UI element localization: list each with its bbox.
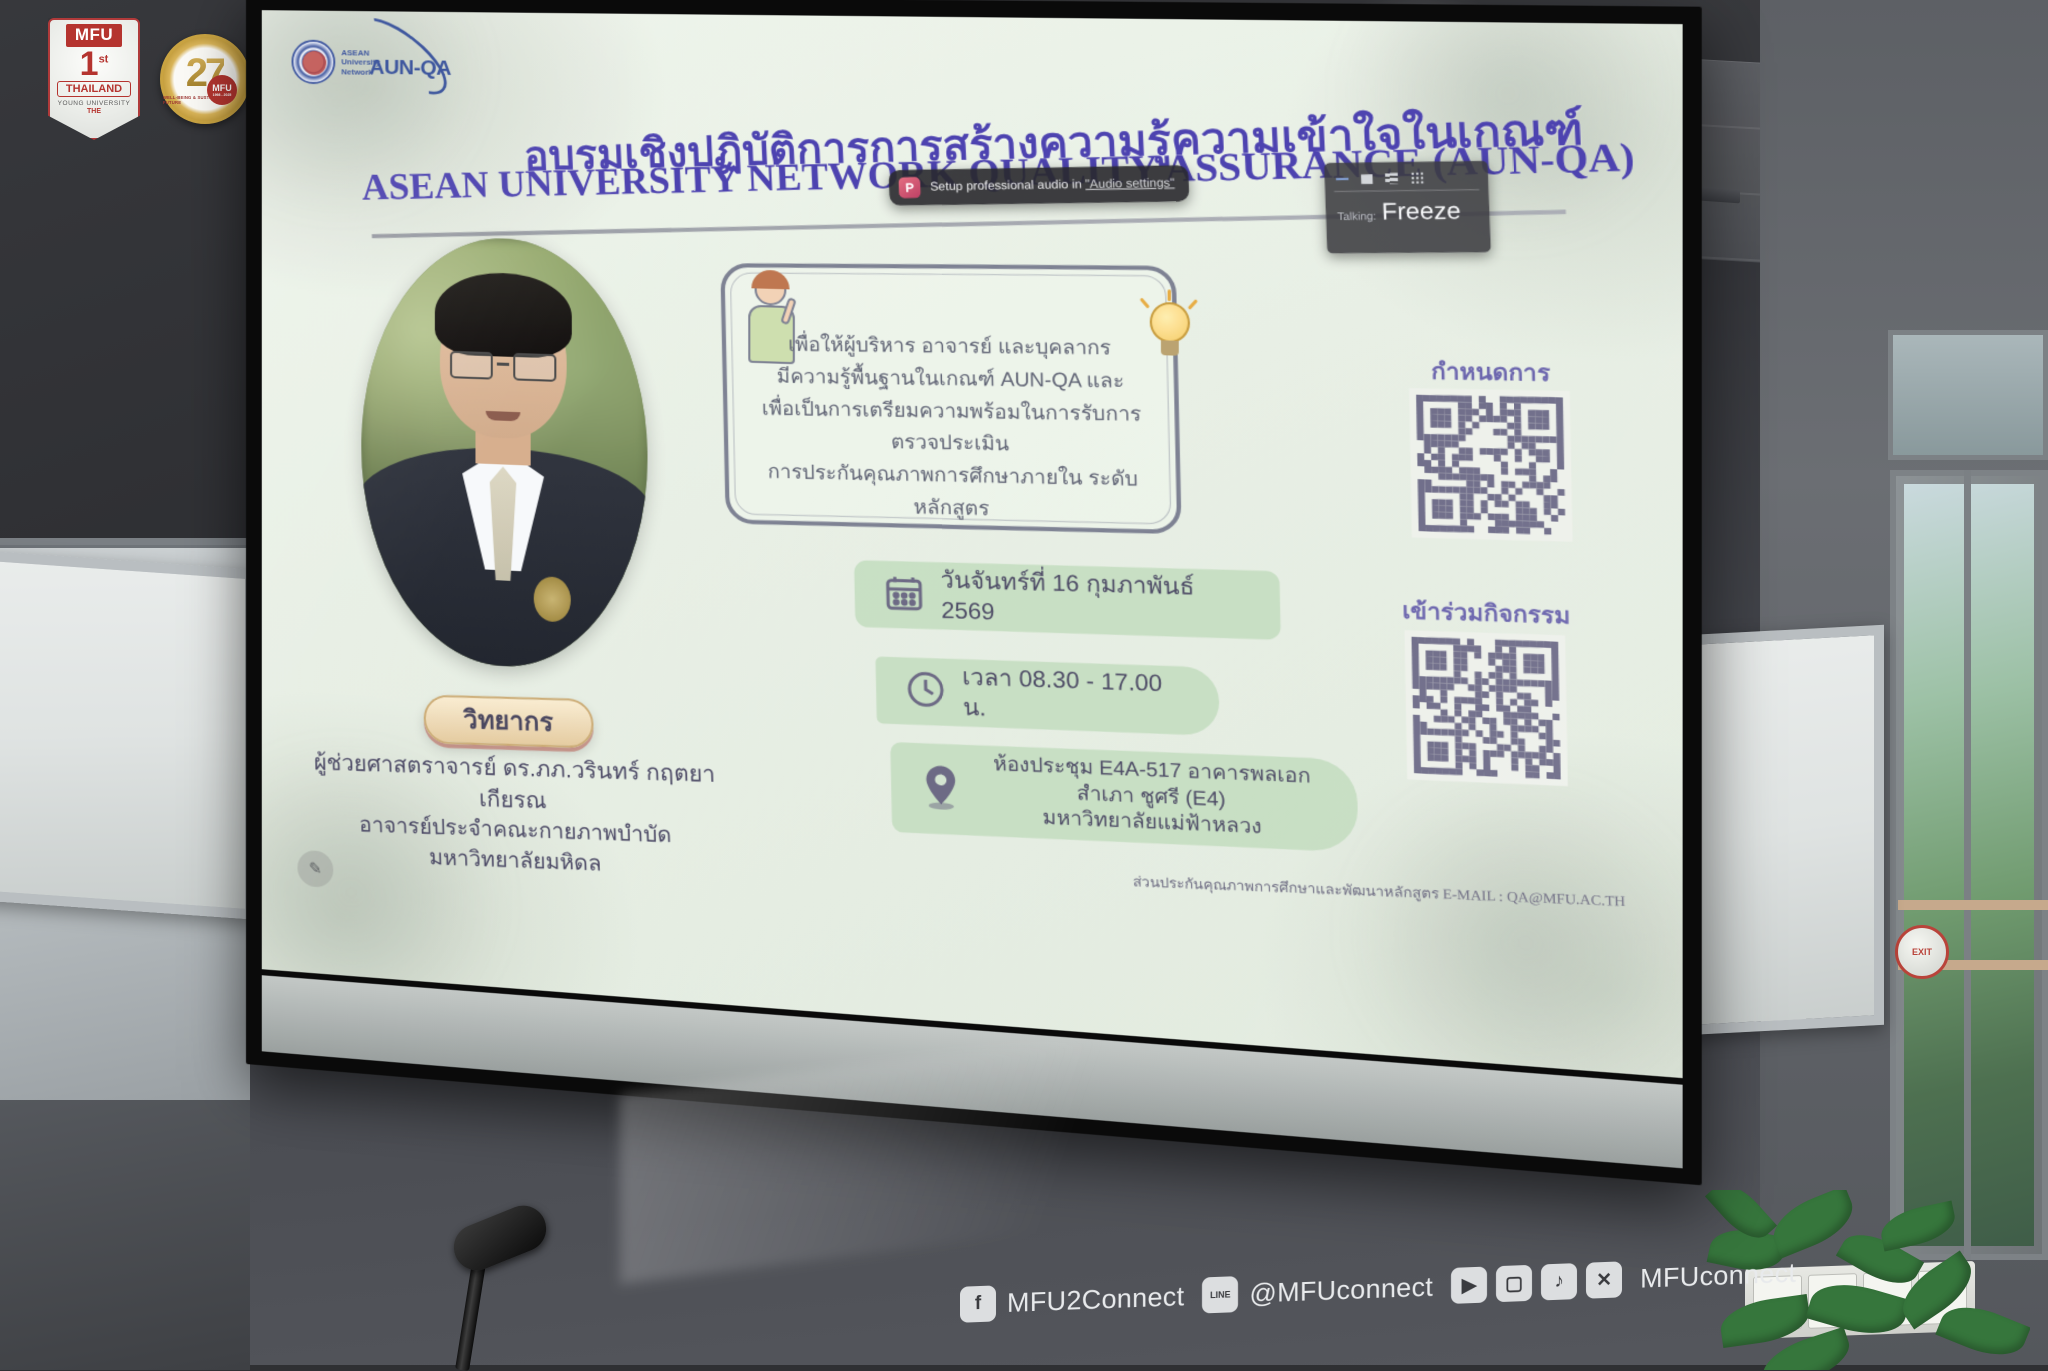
social-icon-cluster: ▶ ▢ ♪ ✕ [1451, 1261, 1622, 1304]
plant-leaf [1935, 1295, 2030, 1366]
screen-icon[interactable] [1361, 174, 1373, 184]
qr-cell [1558, 528, 1565, 535]
rank-source: THE [87, 108, 101, 115]
register-qr-label: เข้าร่วมกิจกรรม [1399, 593, 1574, 634]
anniversary-inner-wordmark: MFU [212, 83, 232, 93]
meeting-room-scene: VERTEX EXIT MFU 1st THAILAND YOUNG UNIVE… [0, 0, 2048, 1365]
microphone-head [447, 1199, 553, 1278]
presentation-slide: ASEAN University Network AUN-QA อบรมเชิง… [262, 10, 1683, 1078]
line-handle: @MFUconnect [1249, 1271, 1433, 1309]
wall-base-left [0, 1100, 250, 1370]
watercolor-wash [1335, 774, 1683, 1078]
event-time-row: เวลา 08.30 - 17.00 น. [875, 656, 1219, 735]
rank-country: THAILAND [57, 81, 131, 97]
location-line-1: ห้องประชุม E4A-517 อาคารพลเอกสำเภา ชูศรี… [993, 753, 1311, 811]
objective-text: เพื่อให้ผู้บริหาร อาจารย์ และบุคลากร มีค… [738, 329, 1168, 530]
qr-pattern [1416, 395, 1565, 535]
lightbulb-ray [1188, 299, 1199, 310]
rank-category: YOUNG UNIVERSITY [58, 100, 131, 107]
facebook-icon: f [960, 1285, 996, 1322]
speaker-details: ผู้ช่วยศาสตราจารย์ ดร.ภภ.วรินทร์ กฤตยาเก… [300, 746, 734, 885]
anniversary-inner-years: 1998 - 2025 [213, 93, 232, 97]
youtube-icon[interactable]: ▶ [1451, 1267, 1487, 1304]
audio-setup-toast[interactable]: P Setup professional audio in "Audio set… [888, 165, 1189, 206]
layout-rows-icon[interactable] [1385, 173, 1398, 184]
rank-number: 1st [80, 48, 109, 80]
mfu-wordmark: MFU [66, 24, 122, 47]
door-mullion [1964, 470, 1971, 1260]
clock-icon [904, 667, 948, 716]
whiteboard-left [0, 550, 255, 919]
lightbulb-ray [1140, 298, 1150, 309]
talking-status: Talking: Freeze [1325, 190, 1490, 226]
qr-cell [1554, 773, 1561, 780]
calendar-icon [882, 571, 926, 619]
x-handle: MFUconnect [1640, 1257, 1796, 1294]
presentation-control-panel[interactable]: Talking: Freeze [1324, 161, 1491, 254]
outdoor-railing [1898, 900, 2048, 910]
speaker-portrait [361, 235, 647, 674]
exit-sign: EXIT [1895, 925, 1949, 979]
objective-line: เพื่อให้ผู้บริหาร อาจารย์ และบุคลากร [738, 329, 1164, 366]
location-pin-icon [919, 762, 963, 815]
speaker-role-badge: วิทยากร [423, 694, 594, 748]
schedule-qr-label: กำหนดการ [1403, 354, 1578, 393]
tiktok-icon[interactable]: ♪ [1541, 1263, 1577, 1300]
audio-settings-link[interactable]: "Audio settings" [1085, 177, 1175, 191]
control-icon-row [1324, 161, 1489, 191]
toast-message-text: Setup professional audio in [930, 179, 1082, 194]
portrait-glasses-bridge [497, 362, 509, 365]
event-location-text: ห้องประชุม E4A-517 อาคารพลเอกสำเภา ชูศรี… [977, 752, 1329, 845]
portrait-mouth [486, 411, 521, 421]
projection-screen: ASEAN University Network AUN-QA อบรมเชิง… [246, 0, 1702, 1185]
register-qr[interactable] [1404, 630, 1567, 786]
grid-view-icon[interactable] [1410, 171, 1424, 184]
illustration-hair [751, 270, 789, 290]
portrait-lapel-pin [534, 576, 571, 623]
event-location-row: ห้องประชุม E4A-517 อาคารพลเอกสำเภา ชูศรี… [890, 742, 1358, 852]
portrait-glasses-right [513, 353, 556, 382]
projected-slide-area[interactable]: ASEAN University Network AUN-QA อบรมเชิง… [262, 10, 1683, 1078]
schedule-qr[interactable] [1409, 388, 1573, 542]
objective-line: การประกันคุณภาพการศึกษาภายใน ระดับหลักสู… [741, 457, 1168, 531]
window-upper-right [1888, 330, 2048, 460]
facebook-handle: MFU2Connect [1007, 1281, 1184, 1319]
event-date-text: วันจันทร์ที่ 16 กุมภาพันธ์ 2569 [940, 566, 1251, 635]
talking-value: Freeze [1381, 197, 1461, 226]
whiteboard-right [1684, 625, 1884, 1035]
toast-message: Setup professional audio in "Audio setti… [930, 177, 1175, 194]
qr-pattern [1412, 637, 1561, 780]
social-line[interactable]: LINE @MFUconnect [1202, 1269, 1433, 1314]
aun-qa-wordmark: AUN-QA [369, 56, 451, 81]
mfu-rank-badge: MFU 1st THAILAND YOUNG UNIVERSITY THE [48, 18, 140, 140]
mfu-anniversary-badge: 27 WELL-BEING & SUSTAINABLE FUTURE MFU 1… [160, 34, 250, 124]
minimize-icon[interactable] [1336, 178, 1349, 180]
location-line-2: มหาวิทยาลัยแม่ฟ้าหลวง [1042, 807, 1262, 839]
event-time-text: เวลา 08.30 - 17.00 น. [962, 663, 1191, 731]
social-facebook[interactable]: f MFU2Connect [960, 1278, 1184, 1323]
instagram-icon[interactable]: ▢ [1496, 1265, 1532, 1302]
line-icon: LINE [1202, 1276, 1238, 1313]
objective-line: เพื่อเป็นการเตรียมความพร้อมในการรับการตร… [739, 393, 1166, 465]
lightbulb-ray [1168, 289, 1171, 301]
talking-label: Talking: [1337, 211, 1376, 223]
powerpoint-icon: P [898, 177, 920, 198]
speaker-role-label: วิทยากร [463, 700, 554, 744]
x-twitter-icon[interactable]: ✕ [1586, 1261, 1622, 1298]
aun-seal-icon [292, 40, 336, 85]
anniversary-inner-badge: MFU 1998 - 2025 [207, 75, 237, 105]
event-date-row: วันจันทร์ที่ 16 กุมภาพันธ์ 2569 [854, 560, 1281, 640]
aun-qa-logo: ASEAN University Network AUN-QA [292, 29, 453, 98]
portrait-glasses-left [450, 351, 493, 380]
